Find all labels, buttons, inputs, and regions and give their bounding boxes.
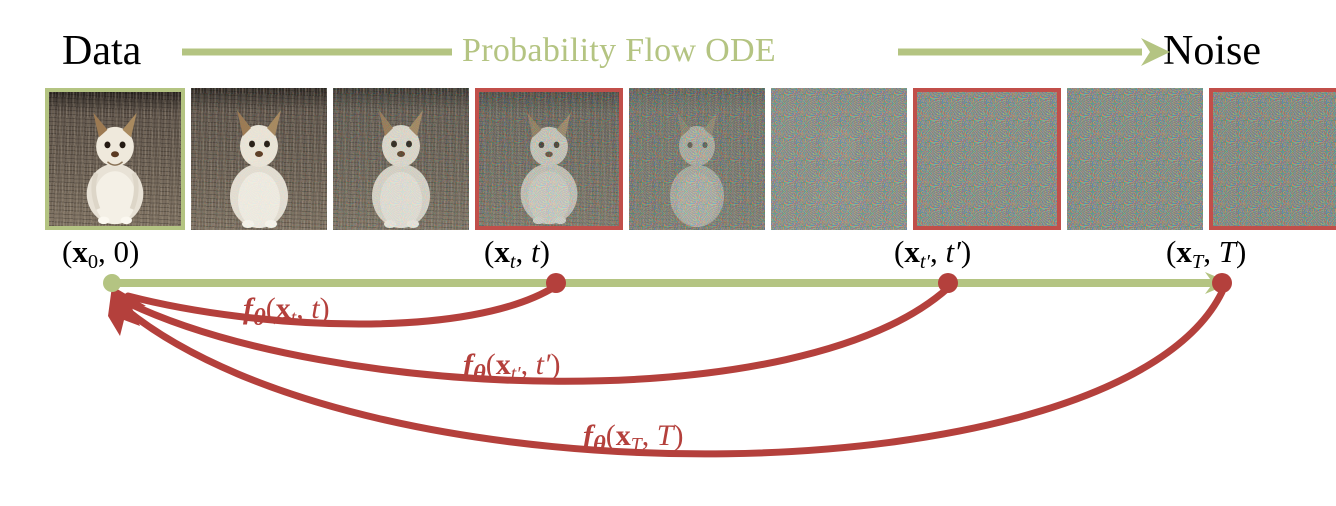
consistency-arrow-xtprime (126, 288, 948, 381)
marker-xtprime (938, 273, 958, 293)
pf-ode-arrowhead-icon (1141, 38, 1170, 66)
marker-xT (1212, 273, 1232, 293)
arrows-overlay (0, 0, 1336, 506)
consistency-arrow-xt (128, 286, 556, 324)
marker-xt (546, 273, 566, 293)
marker-x0 (103, 274, 121, 292)
consistency-model-diagram: Data Noise Probability Flow ODE (0, 0, 1336, 506)
consistency-arrow-xT (124, 292, 1222, 454)
